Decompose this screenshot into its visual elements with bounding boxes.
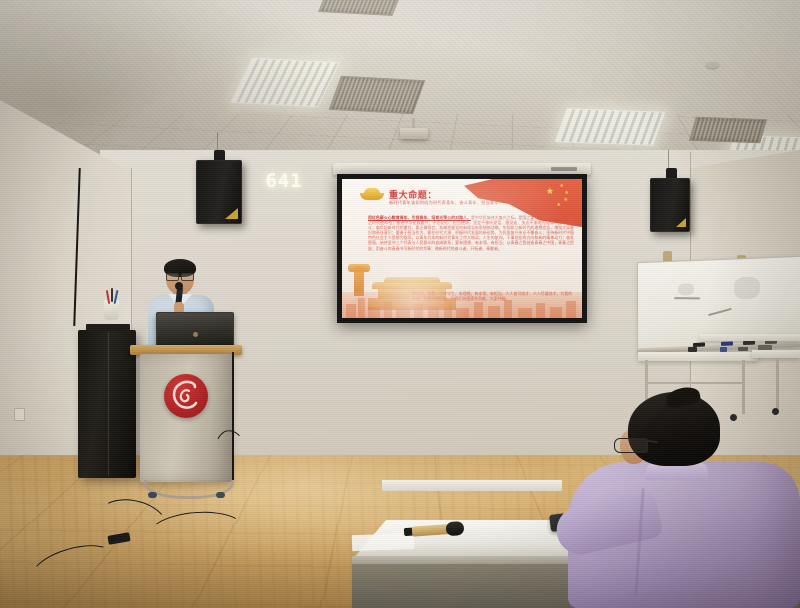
projection-screen: ★ ★ ★ ★ ★ 重大命题： 新时代青年该如何成为时代表青年、奋斗青年、担当青…	[337, 163, 587, 323]
laptop-logo-icon	[193, 332, 198, 337]
seated-attendee	[562, 392, 800, 608]
ceiling-speaker-right	[650, 168, 688, 230]
speaker-wire	[668, 150, 669, 170]
ceiling	[0, 0, 800, 175]
slide-footer-text: 同学们，我是一个中学生，有理想，有本领，有担当，人人皆可成才、人人尽展其才，为我…	[412, 291, 572, 301]
folding-table	[752, 350, 800, 358]
lectern-foot	[216, 492, 225, 498]
secondary-table	[382, 480, 562, 491]
swirl-logo-icon	[164, 374, 208, 418]
flag-star-icon: ★	[565, 191, 569, 196]
table-leg	[645, 382, 745, 384]
whiteboard-marker	[743, 341, 755, 345]
table-item	[720, 347, 727, 352]
flag-star-icon: ★	[564, 198, 568, 203]
flag-star-icon: ★	[557, 203, 561, 208]
meeting-room-photograph: 641 ★ ★ ★ ★ ★	[0, 0, 800, 608]
presentation-slide: ★ ★ ★ ★ ★ 重大命题： 新时代青年该如何成为时代表青年、奋斗青年、担当青…	[342, 179, 582, 318]
speaker-enclosure	[650, 178, 690, 232]
screen-frame: ★ ★ ★ ★ ★ 重大命题： 新时代青年该如何成为时代表青年、奋斗青年、担当青…	[337, 174, 587, 323]
flag-star-icon: ★	[546, 187, 554, 196]
whiteboard-marker	[721, 341, 733, 345]
speaker-enclosure	[196, 160, 242, 224]
speaker-wire	[217, 132, 218, 152]
microphone-body	[412, 524, 451, 537]
table-item	[758, 345, 772, 350]
whiteboard-mark	[674, 297, 700, 299]
slide-body-main: 是中华民族伟大复兴之际，是国之重任；国家心所系，家国之时代使命也；推进中华民族复…	[368, 215, 574, 251]
table-item	[738, 347, 748, 351]
lectern-foot	[148, 492, 157, 498]
podium-logo	[164, 374, 208, 418]
microphone-head-icon	[175, 282, 183, 290]
whiteboard-mount	[663, 251, 672, 261]
led-wall-clock: 641	[258, 170, 310, 192]
slide-subtitle: 新时代青年该如何成为时代表青年、奋斗青年、担当青年？	[389, 200, 509, 205]
clock-display: 641	[265, 170, 302, 192]
ceiling-speaker-left	[196, 150, 240, 224]
microphone-grille-icon	[445, 521, 464, 536]
whiteboard-smudge	[678, 283, 694, 296]
speaker-logo-icon	[225, 208, 238, 219]
ceiling-projector	[400, 128, 428, 139]
whiteboard-mark	[708, 308, 732, 316]
folding-table	[700, 334, 800, 341]
wall-outlet	[14, 408, 25, 421]
slide-body-text: 用红色薪火心教育青年、引领青年、培育光荣公的对路人，是中华民族伟大复兴之际，是国…	[368, 215, 574, 251]
flag-star-icon: ★	[560, 184, 564, 189]
screen-brand-label	[551, 167, 577, 171]
folding-table	[638, 352, 758, 361]
speaker-logo-icon	[676, 218, 686, 227]
whiteboard-smudge	[734, 276, 760, 299]
gold-emblem-icon	[360, 187, 384, 200]
ceiling-shading	[0, 0, 800, 175]
eyeglasses-icon	[166, 273, 194, 279]
table-item	[688, 347, 697, 352]
